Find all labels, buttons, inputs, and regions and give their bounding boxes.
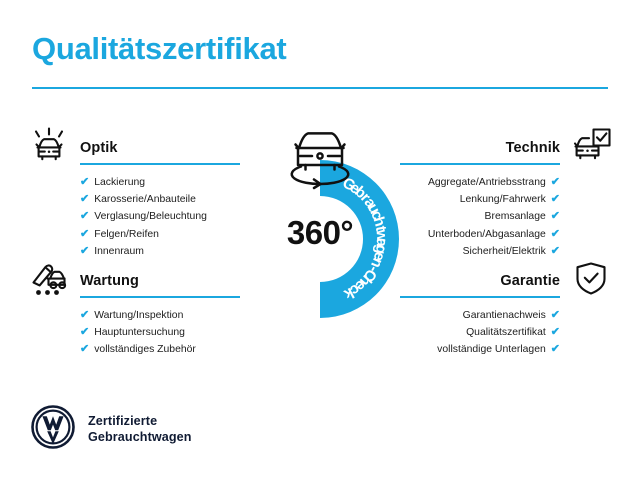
check-icon: ✔ [551,341,560,357]
check-icon: ✔ [551,324,560,340]
list-item-label: vollständiges Zubehör [94,344,196,355]
car-checkbox-icon [568,122,614,168]
list-item-label: Lenkung/Fahrwerk [460,194,546,205]
check-icon: ✔ [551,307,560,323]
footer-line-2: Gebrauchtwagen [88,430,192,446]
badge-360-check: Gebrauchtwagen-Check 36 [229,118,411,318]
car-rotation-icon [275,118,365,192]
list-item-label: Aggregate/Antriebsstrang [428,177,546,188]
check-icon: ✔ [80,341,89,357]
list-item: ✔Wartung/Inspektion [80,307,196,324]
page-title: Qualitätszertifikat [32,32,286,66]
check-icon: ✔ [80,307,89,323]
list-item: Unterboden/Abgasanlage✔ [428,226,560,243]
list-item: Lenkung/Fahrwerk✔ [428,191,560,208]
section-technik-underline [400,163,560,165]
section-optik-list: ✔Lackierung ✔Karosserie/Anbauteile ✔Verg… [80,174,207,260]
title-divider [32,87,608,89]
section-garantie-underline [400,296,560,298]
check-icon: ✔ [551,174,560,190]
list-item-label: Hauptuntersuchung [94,327,185,338]
badge-center-label: 360° [229,214,411,252]
car-service-tool-icon [26,255,72,301]
check-icon: ✔ [551,191,560,207]
list-item-label: vollständige Unterlagen [437,344,546,355]
list-item: ✔vollständiges Zubehör [80,341,196,358]
list-item-label: Lackierung [94,177,145,188]
section-technik-list: Aggregate/Antriebsstrang✔ Lenkung/Fahrwe… [428,174,560,260]
list-item-label: Felgen/Reifen [94,229,159,240]
list-item: ✔Felgen/Reifen [80,226,207,243]
list-item-label: Wartung/Inspektion [94,310,183,321]
list-item-label: Unterboden/Abgasanlage [428,229,546,240]
list-item: Aggregate/Antriebsstrang✔ [428,174,560,191]
list-item-label: Karosserie/Anbauteile [94,194,196,205]
footer-brand: Zertifizierte Gebrauchtwagen [31,405,192,454]
footer-line-1: Zertifizierte [88,414,192,430]
check-icon: ✔ [80,191,89,207]
shiny-car-icon [26,122,72,168]
section-wartung-list: ✔Wartung/Inspektion ✔Hauptuntersuchung ✔… [80,307,196,359]
list-item-label: Qualitätszertifikat [466,327,546,338]
volkswagen-logo [31,405,75,454]
section-optik-title: Optik [80,140,118,156]
list-item-label: Bremsanlage [485,211,546,222]
list-item: Bremsanlage✔ [428,208,560,225]
list-item-label: Garantienachweis [463,310,546,321]
shield-check-icon [568,255,614,301]
list-item: ✔Hauptuntersuchung [80,324,196,341]
list-item: ✔Karosserie/Anbauteile [80,191,207,208]
check-icon: ✔ [80,324,89,340]
check-icon: ✔ [551,226,560,242]
section-garantie-list: Garantienachweis✔ Qualitätszertifikat✔ v… [437,307,560,359]
list-item: ✔Lackierung [80,174,207,191]
check-icon: ✔ [551,208,560,224]
section-wartung-title: Wartung [80,273,139,289]
section-garantie-title: Garantie [500,273,560,289]
check-icon: ✔ [80,226,89,242]
list-item: ✔Verglasung/Beleuchtung [80,208,207,225]
certificate-page: Qualitätszertifikat [0,0,640,480]
check-icon: ✔ [80,208,89,224]
list-item: vollständige Unterlagen✔ [437,341,560,358]
section-wartung-underline [80,296,240,298]
list-item: Qualitätszertifikat✔ [437,324,560,341]
list-item: Garantienachweis✔ [437,307,560,324]
list-item-label: Verglasung/Beleuchtung [94,211,207,222]
section-technik-title: Technik [506,140,560,156]
footer-text: Zertifizierte Gebrauchtwagen [88,414,192,445]
section-optik-underline [80,163,240,165]
check-icon: ✔ [80,174,89,190]
